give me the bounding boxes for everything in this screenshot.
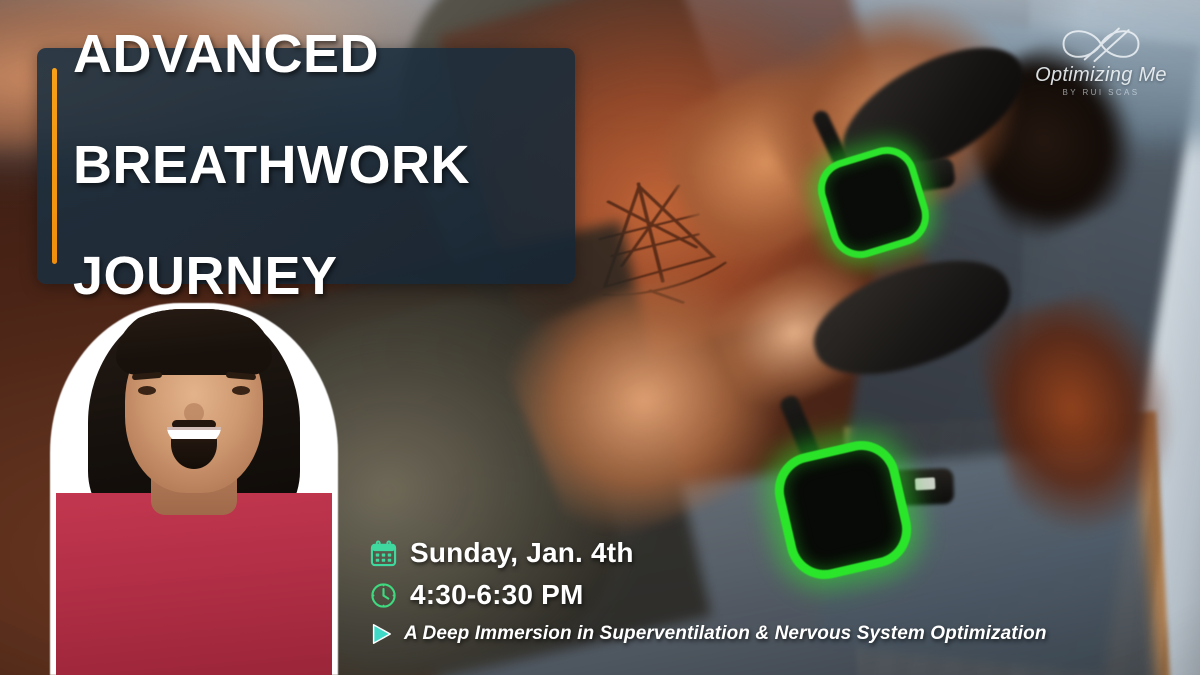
portrait-image — [56, 309, 332, 675]
clock-icon — [368, 580, 398, 610]
event-date-label: Sunday, Jan. 4th — [410, 537, 634, 569]
event-details: Sunday, Jan. 4th 4:30-6:30 PM — [368, 537, 1178, 647]
calendar-icon — [368, 538, 398, 568]
portrait-eye-left — [138, 386, 156, 395]
portrait-eye-right — [232, 386, 250, 395]
portrait-hair-top — [116, 309, 272, 375]
title-line-2: BREATHWORK — [73, 138, 470, 194]
event-time-label: 4:30-6:30 PM — [410, 579, 584, 611]
presenter-portrait — [44, 300, 344, 675]
brand-name: Optimizing Me — [1026, 64, 1176, 87]
orange-accent-bar — [52, 68, 57, 264]
brand-tagline: BY RUI SCAS — [1026, 88, 1176, 97]
portrait-shirt — [56, 493, 332, 675]
detail-row-date: Sunday, Jan. 4th — [368, 537, 1178, 569]
title-line-3: JOURNEY — [73, 249, 470, 305]
infinity-logo-icon — [1026, 22, 1176, 66]
brand-logo: Optimizing Me BY RUI SCAS — [1026, 22, 1176, 97]
event-tagline-label: A Deep Immersion in Superventilation & N… — [404, 623, 1047, 645]
detail-row-tagline: A Deep Immersion in Superventilation & N… — [368, 621, 1178, 647]
title-card: ADVANCED BREATHWORK JOURNEY — [37, 48, 575, 284]
title-line-1: ADVANCED — [73, 27, 470, 83]
event-poster: ADVANCED BREATHWORK JOURNEY Optimizing M… — [0, 0, 1200, 675]
play-triangle-icon — [368, 621, 394, 647]
detail-row-time: 4:30-6:30 PM — [368, 579, 1178, 611]
